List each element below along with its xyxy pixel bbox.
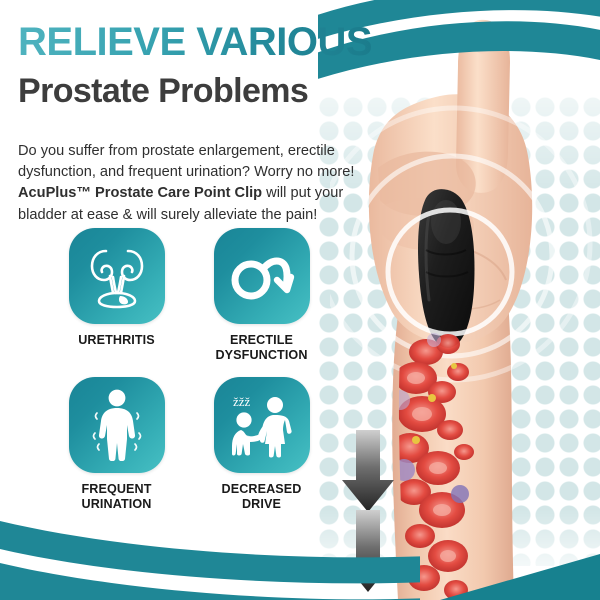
symptom-icon-grid: URETHRITIS ERECTILEDYSFUNCTION bbox=[44, 228, 334, 511]
symptom-icon-tile bbox=[69, 377, 165, 473]
svg-text:žžž: žžž bbox=[233, 394, 251, 409]
symptom-row-1: URETHRITIS ERECTILEDYSFUNCTION bbox=[44, 228, 334, 363]
page-title-primary: RELIEVE VARIOUS bbox=[18, 22, 372, 62]
symptom-label: DECREASEDDRIVE bbox=[222, 482, 302, 512]
symptom-label: ERECTILEDYSFUNCTION bbox=[215, 333, 307, 363]
sleeping-man-woman-icon: žžž bbox=[227, 392, 297, 458]
symptom-icon-tile bbox=[214, 228, 310, 324]
page-title-secondary: Prostate Problems bbox=[18, 74, 308, 108]
symptom-icon-tile bbox=[69, 228, 165, 324]
person-holding-bladder-icon bbox=[87, 389, 147, 461]
bottom-right-teal-block bbox=[440, 514, 600, 600]
symptom-card-decreased-drive[interactable]: žžž DECREASEDDRIVE bbox=[189, 377, 334, 512]
symptom-card-frequent-urination[interactable]: FREQUENTURINATION bbox=[44, 377, 189, 512]
body-copy: Do you suffer from prostate enlargement,… bbox=[18, 141, 390, 227]
symptom-label: FREQUENTURINATION bbox=[81, 482, 151, 512]
symptom-card-urethritis[interactable]: URETHRITIS bbox=[44, 228, 189, 363]
advertisement-canvas: RELIEVE VARIOUS Prostate Problems Do you… bbox=[0, 0, 600, 600]
symptom-row-2: FREQUENTURINATION žžž bbox=[44, 377, 334, 512]
product-name-bold: AcuPlus™ Prostate Care Point Clip bbox=[18, 185, 262, 201]
body-copy-intro: Do you suffer from prostate enlargement,… bbox=[18, 143, 354, 180]
symptom-label: URETHRITIS bbox=[78, 333, 155, 348]
male-symbol-drooping-arrow-icon bbox=[229, 250, 295, 302]
symptom-card-erectile-dysfunction[interactable]: ERECTILEDYSFUNCTION bbox=[189, 228, 334, 363]
symptom-icon-tile: žžž bbox=[214, 377, 310, 473]
urinary-system-icon bbox=[86, 243, 148, 309]
